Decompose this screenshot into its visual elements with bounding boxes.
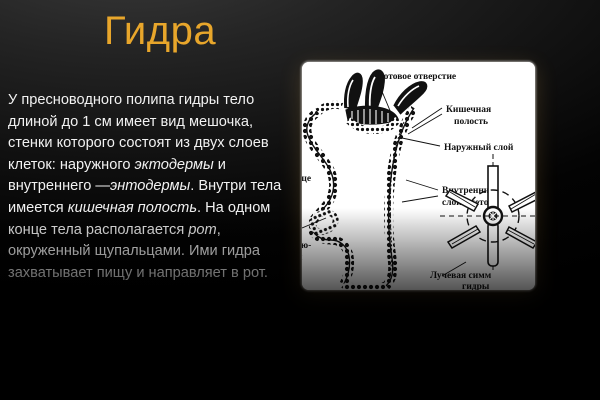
label-stinging-cropped-line1: ваю- — [302, 241, 311, 251]
body-segment-3: энтодермы — [110, 178, 190, 194]
hydra-figure-inner: Ротовое отверстие Кишечная полость Наруж… — [302, 62, 535, 290]
body-segment-1: эктодермы — [135, 157, 214, 173]
label-radial-symmetry-line1: Лучевая симм — [430, 271, 492, 281]
page-title: Гидра — [104, 8, 216, 54]
radial-body-lower — [488, 222, 498, 266]
label-mouth-opening: Ротовое отверстие — [378, 72, 456, 82]
body-segment-5: кишечная полость — [68, 200, 197, 216]
presentation-slide: Гидра У пресноводного полипа гидры тело … — [0, 0, 600, 400]
hydra-foot — [344, 284, 386, 289]
body-text-run: У пресноводного полипа гидры тело длиной… — [8, 92, 281, 281]
label-gastric-cavity-line2: полость — [454, 117, 488, 127]
hydra-anatomy-diagram: Ротовое отверстие Кишечная полость Наруж… — [302, 62, 535, 290]
radial-body-upper — [488, 166, 498, 210]
hydra-figure-panel: Ротовое отверстие Кишечная полость Наруж… — [302, 62, 535, 290]
label-outer-layer: Наружный слой — [444, 142, 514, 153]
label-tentacle-cropped: льце — [302, 174, 311, 184]
label-gastric-cavity-line1: Кишечная — [446, 105, 491, 115]
body-paragraph: У пресноводного полипа гидры тело длиной… — [8, 90, 286, 284]
body-segment-7: рот — [188, 222, 216, 238]
label-radial-symmetry-line2: гидры — [462, 282, 490, 290]
